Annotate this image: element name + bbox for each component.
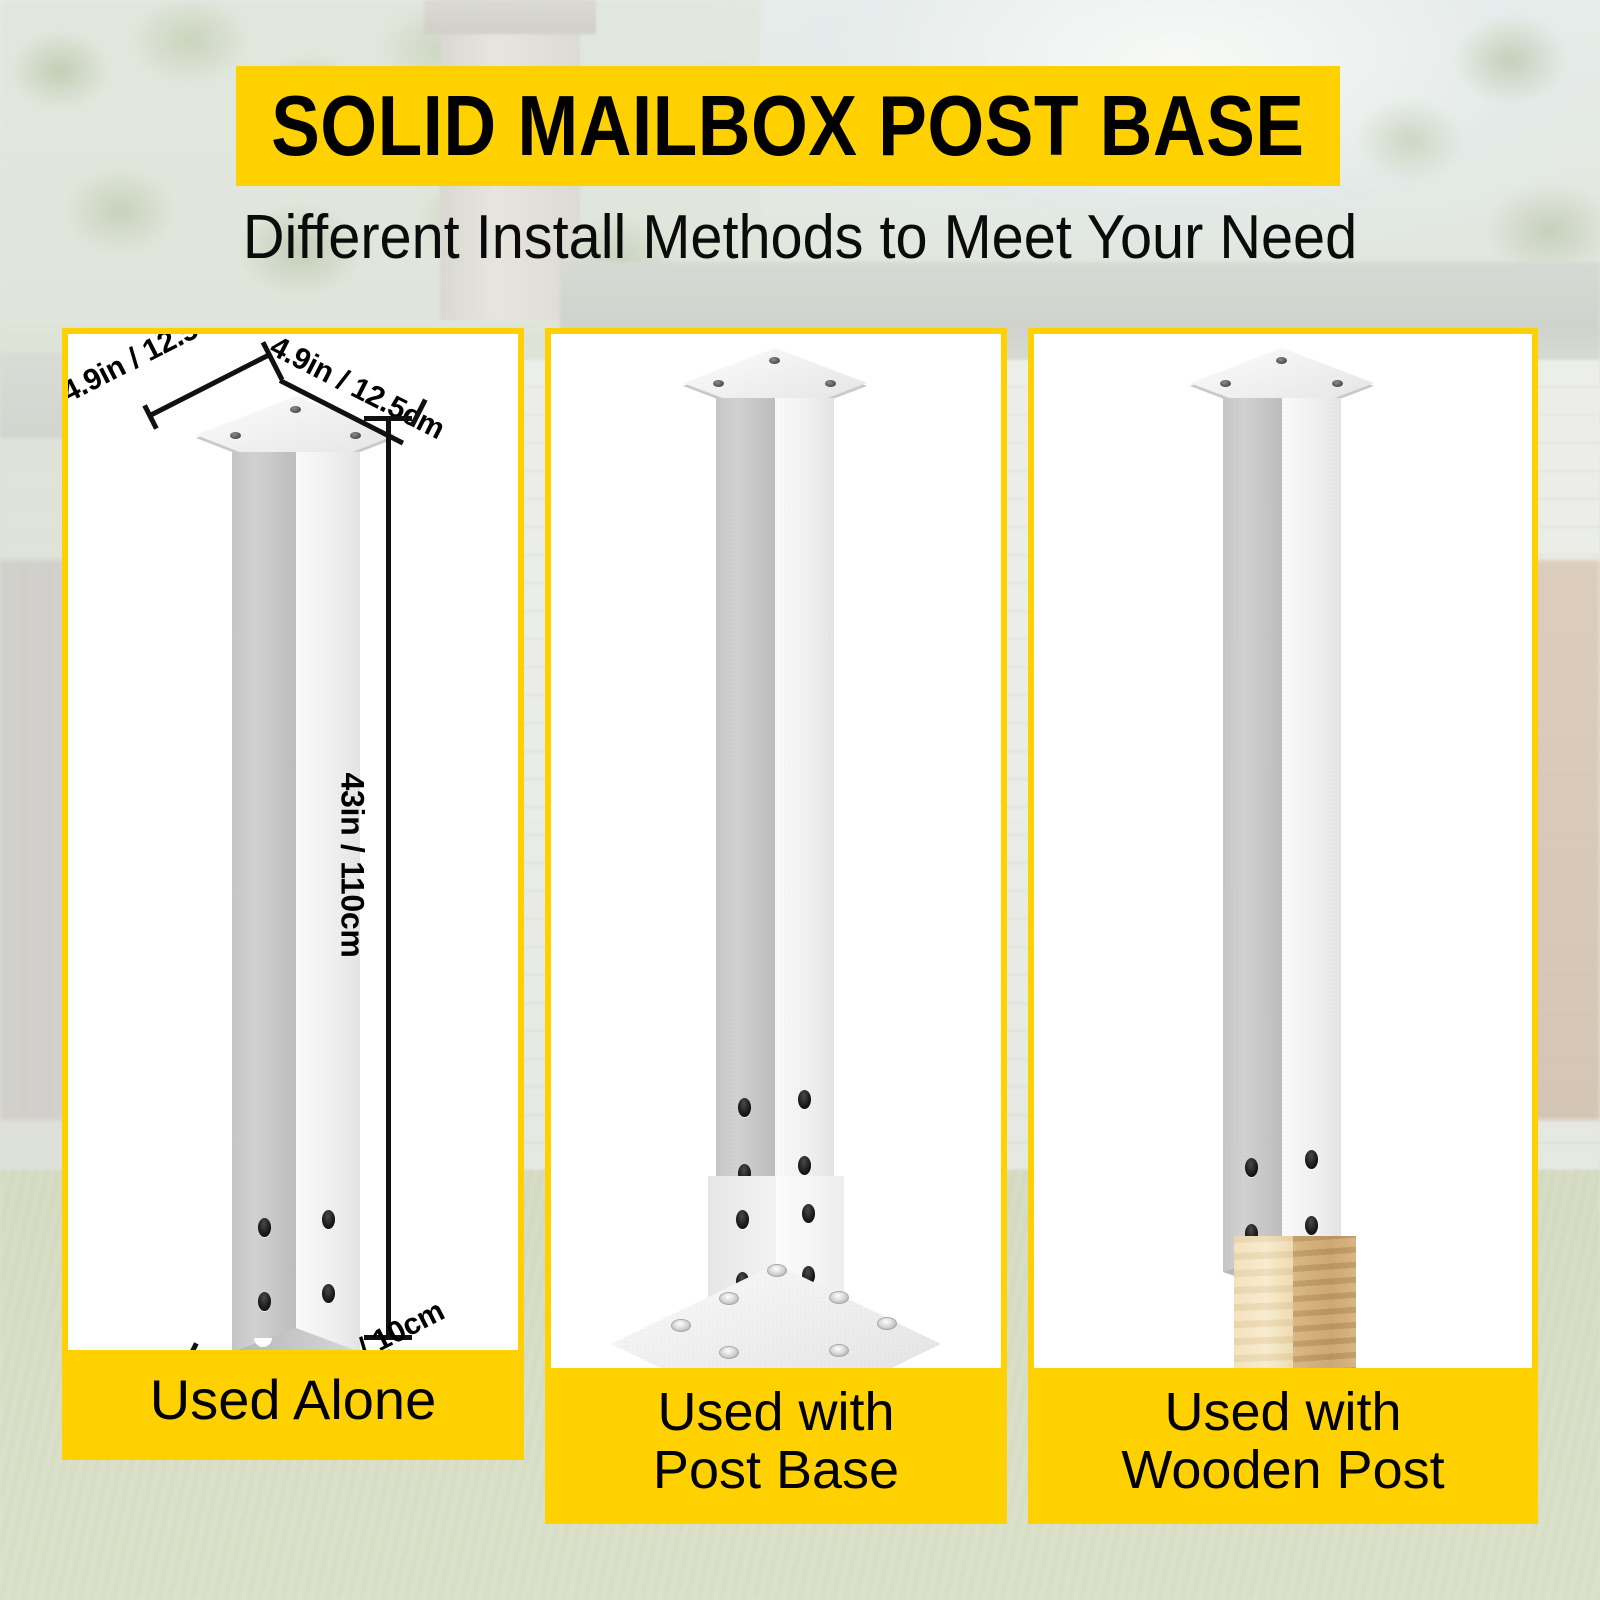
caption-line-1: Used with <box>551 1384 1001 1442</box>
arrow-up-icon <box>1242 1284 1276 1368</box>
post-face-left <box>232 452 296 1350</box>
anchor-hole <box>719 1346 739 1359</box>
arrow-down-icon <box>727 978 761 1068</box>
dimension-label-height: 43in / 110cm <box>334 773 371 958</box>
post-mounting-hole <box>1305 1150 1318 1169</box>
caption-line-2: Post Base <box>551 1442 1001 1500</box>
page-title: SOLID MAILBOX POST BASE <box>271 84 1304 169</box>
cap-screw <box>1276 357 1287 364</box>
panel-wooden-post-illustration <box>1034 334 1532 1368</box>
anchor-hole <box>767 1264 787 1277</box>
dimension-line-height <box>386 416 391 1340</box>
caption-line-2: Wooden Post <box>1034 1442 1532 1500</box>
panel-caption-used-alone: Used Alone <box>68 1350 518 1454</box>
panel-caption-post-base: Used with Post Base <box>551 1368 1001 1518</box>
post-body <box>1223 398 1341 1272</box>
anchor-hole <box>829 1344 849 1357</box>
anchor-hole <box>877 1317 897 1330</box>
cap-screw <box>1220 380 1231 387</box>
cap-screw <box>825 380 836 387</box>
caption-line-1: Used Alone <box>68 1370 518 1430</box>
page-subtitle: Different Install Methods to Meet Your N… <box>56 205 1544 270</box>
cap-screw <box>230 432 241 439</box>
cap-screw <box>350 432 361 439</box>
anchor-hole <box>829 1291 849 1304</box>
cap-screw <box>1332 380 1343 387</box>
panel-caption-wooden-post: Used with Wooden Post <box>1034 1368 1532 1518</box>
post-base-flange-plate <box>611 1264 941 1368</box>
sleeve-bolt-hole <box>736 1210 749 1229</box>
caption-line-1: Used with <box>1034 1384 1532 1442</box>
arrow-down-icon <box>789 972 823 1062</box>
metal-post-with-base <box>683 348 867 1228</box>
anchor-hole <box>719 1292 739 1305</box>
cap-screw <box>713 380 724 387</box>
post-mounting-hole <box>1245 1158 1258 1177</box>
cap-screw <box>290 406 301 413</box>
post-mounting-hole <box>258 1292 271 1311</box>
post-mounting-hole <box>798 1156 811 1175</box>
panel-used-with-wooden-post[interactable]: Used with Wooden Post <box>1028 328 1538 1524</box>
post-mounting-hole <box>322 1210 335 1229</box>
post-body <box>716 398 834 1218</box>
panel-used-alone-illustration: 4.9in / 12.5cm 4.9in / 12.5cm 43in / 110… <box>68 334 518 1350</box>
panel-used-with-post-base[interactable]: Used with Post Base <box>545 328 1007 1524</box>
metal-post-with-wood <box>1190 348 1374 1228</box>
post-face-left <box>716 398 775 1218</box>
dimension-tick <box>182 1342 198 1350</box>
arrow-up-icon <box>1304 1278 1338 1368</box>
post-mounting-hole <box>322 1284 335 1303</box>
dimension-tick <box>364 416 412 421</box>
title-banner: SOLID MAILBOX POST BASE <box>236 66 1340 186</box>
post-mounting-hole <box>798 1090 811 1109</box>
arrow-down-icon <box>1296 972 1330 1062</box>
post-mounting-hole <box>258 1218 271 1237</box>
panel-post-base-illustration <box>551 334 1001 1368</box>
panel-used-alone[interactable]: 4.9in / 12.5cm 4.9in / 12.5cm 43in / 110… <box>62 328 524 1460</box>
anchor-hole <box>671 1319 691 1332</box>
cap-screw <box>769 357 780 364</box>
post-face-right <box>1282 398 1341 1272</box>
post-face-left <box>1223 398 1282 1272</box>
post-mounting-hole <box>738 1098 751 1117</box>
sleeve-bolt-hole <box>802 1204 815 1223</box>
arrow-down-icon <box>1234 978 1268 1068</box>
post-mounting-hole <box>1305 1216 1318 1235</box>
